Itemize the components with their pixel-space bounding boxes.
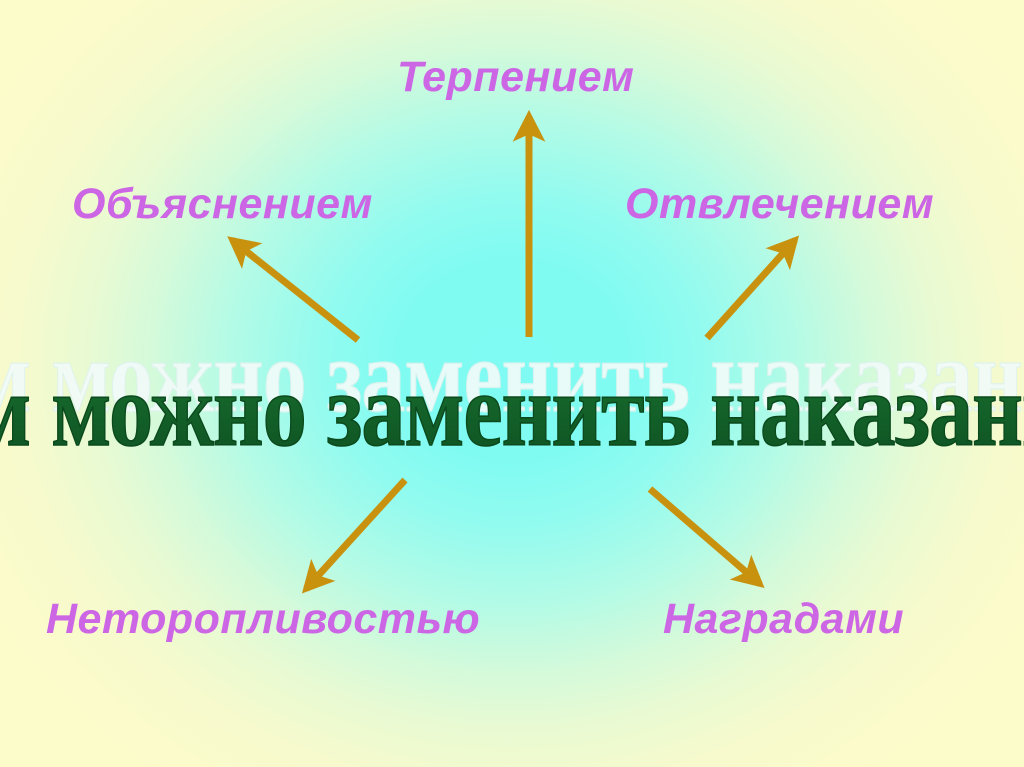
label-terpeniem: Терпением — [397, 56, 634, 99]
label-otvlecheniem: Отвлечением — [625, 183, 934, 226]
arrow-to-obyasneniem — [232, 240, 358, 340]
arrow-to-nagradami — [650, 489, 760, 584]
wordart-main-text: Чем можно заменить наказание? — [0, 352, 1024, 468]
slide-canvas: Чем можно заменить наказание? Чем можно … — [0, 0, 1024, 767]
label-nagradami: Наградами — [663, 598, 904, 641]
wordart-title: Чем можно заменить наказание? Чем можно … — [0, 333, 1024, 478]
wordart-svg: Чем можно заменить наказание? Чем можно … — [0, 333, 1024, 478]
arrow-to-otvlecheniem — [707, 240, 795, 338]
label-obyasneniem: Объяснением — [72, 183, 373, 226]
label-netoroplivostyu: Неторопливостью — [46, 598, 480, 641]
arrow-to-netoroplivostyu — [306, 480, 405, 589]
